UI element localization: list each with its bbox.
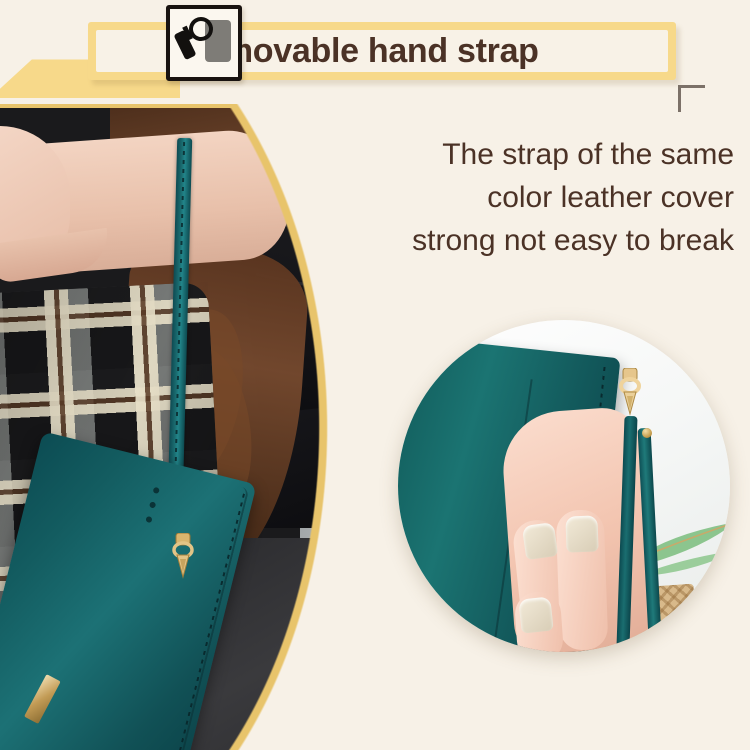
description-line-1: The strap of the same [334,133,734,176]
product-feature-banner: The strap of the same color leather cove… [0,0,750,750]
hand-strap-phone-icon [166,5,242,81]
gold-lobster-clasp [170,533,196,585]
closeup-strap-rivet [642,428,652,438]
fingernail-1 [522,522,558,560]
fingernail-2 [565,515,598,552]
description-text: The strap of the same color leather cove… [334,133,734,262]
hand-holding-case-closeup-photo [398,320,730,652]
corner-bracket-mark [678,85,705,112]
closeup-gold-clasp [616,368,644,420]
page-title: Removable hand strap [180,20,660,82]
fingernail-3 [518,596,553,633]
description-line-2: color leather cover [334,176,734,219]
description-line-3: strong not easy to break [334,219,734,262]
